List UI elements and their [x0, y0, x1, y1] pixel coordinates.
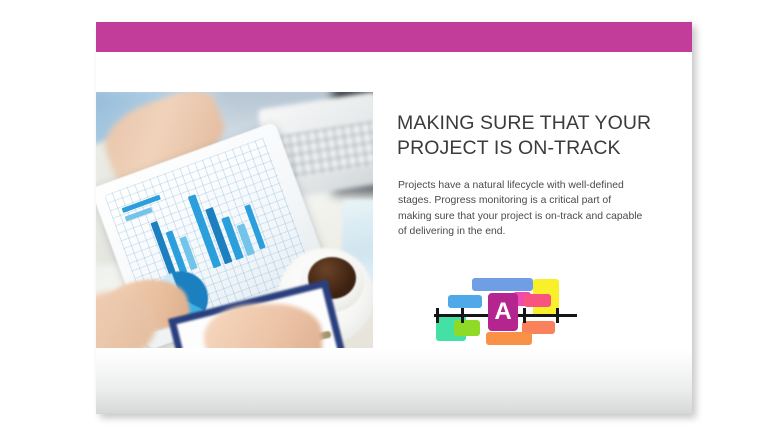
header-accent-band	[96, 22, 692, 52]
slide-body-text: Projects have a natural lifecycle with w…	[398, 178, 646, 240]
gantt-bar-orange-bottom	[486, 332, 532, 345]
presentation-slide: MAKING SURE THAT YOUR PROJECT IS ON-TRAC…	[96, 22, 692, 414]
slide-canvas: MAKING SURE THAT YOUR PROJECT IS ON-TRAC…	[0, 0, 770, 440]
gantt-tick-2	[461, 308, 464, 323]
gantt-tick-4	[523, 308, 526, 323]
gantt-bar-pink-rose	[524, 294, 551, 307]
gantt-bar-blue-long-top	[472, 278, 533, 291]
footer-gradient-band	[96, 348, 692, 414]
gantt-badge-letter: A	[494, 300, 511, 324]
gantt-tick-5	[556, 308, 559, 323]
gantt-tick-1	[436, 308, 439, 323]
gantt-bar-blue-short	[448, 295, 482, 308]
slide-title: MAKING SURE THAT YOUR PROJECT IS ON-TRAC…	[397, 111, 659, 161]
slide-photo	[96, 92, 373, 348]
gantt-timeline-graphic: A	[434, 262, 580, 346]
gantt-milestone-badge: A	[488, 293, 518, 331]
gantt-bar-green-bar	[454, 320, 480, 336]
